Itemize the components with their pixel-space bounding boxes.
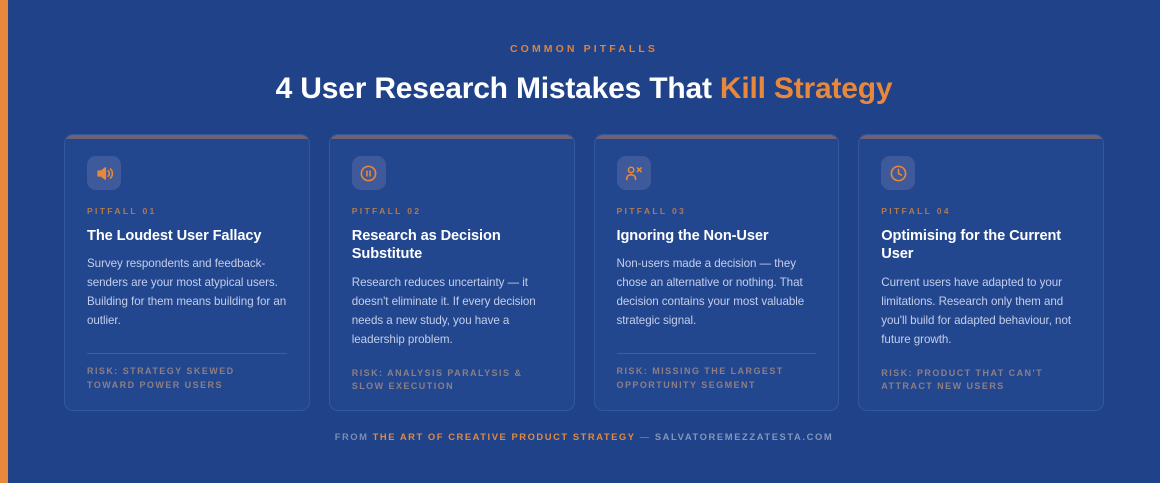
pitfall-number-label: PITFALL 04 xyxy=(881,207,1081,216)
user-x-icon xyxy=(624,164,643,183)
pause-circle-icon xyxy=(359,164,378,183)
page-title-accent: Kill Strategy xyxy=(720,72,892,105)
pitfall-number-label: PITFALL 02 xyxy=(352,207,552,216)
card-icon-tile xyxy=(352,156,386,190)
card-title: Optimising for the Current User xyxy=(881,227,1081,264)
card-title: Ignoring the Non-User xyxy=(617,227,817,246)
footer-book-title[interactable]: THE ART OF CREATIVE PRODUCT STRATEGY xyxy=(373,431,636,442)
footer-from-label: FROM xyxy=(335,431,369,442)
footer-attribution: FROM THE ART OF CREATIVE PRODUCT STRATEG… xyxy=(335,432,834,441)
page-title-plain: 4 User Research Mistakes That xyxy=(276,72,720,105)
card-top-accent xyxy=(595,135,839,139)
clock-icon xyxy=(889,164,908,183)
card-icon-tile xyxy=(87,156,121,190)
footer-dash: — xyxy=(640,431,651,442)
eyebrow-label: COMMON PITFALLS xyxy=(510,44,658,55)
pitfall-number-label: PITFALL 01 xyxy=(87,207,287,216)
pitfall-card[interactable]: PITFALL 02 Research as Decision Substitu… xyxy=(329,134,575,411)
card-risk-text: RISK: ANALYSIS PARALYSIS & SLOW EXECUTIO… xyxy=(352,367,552,412)
footer-website-link[interactable]: SALVATOREMEZZATESTA.COM xyxy=(655,431,833,442)
pitfall-card[interactable]: PITFALL 01 The Loudest User Fallacy Surv… xyxy=(64,134,310,411)
card-icon-tile xyxy=(881,156,915,190)
pitfall-card[interactable]: PITFALL 04 Optimising for the Current Us… xyxy=(858,134,1104,411)
card-spacer xyxy=(352,350,552,356)
card-icon-tile xyxy=(617,156,651,190)
pitfall-card[interactable]: PITFALL 03 Ignoring the Non-User Non-use… xyxy=(594,134,840,411)
card-spacer xyxy=(87,331,287,353)
card-top-accent xyxy=(65,135,309,139)
card-risk-text: RISK: MISSING THE LARGEST OPPORTUNITY SE… xyxy=(617,365,817,410)
page-container: COMMON PITFALLS 4 User Research Mistakes… xyxy=(8,0,1160,483)
card-title: Research as Decision Substitute xyxy=(352,227,552,264)
card-divider xyxy=(617,353,817,354)
card-top-accent xyxy=(330,135,574,139)
card-risk-text: RISK: PRODUCT THAT CAN'T ATTRACT NEW USE… xyxy=(881,367,1081,412)
card-divider xyxy=(87,353,287,354)
card-title: The Loudest User Fallacy xyxy=(87,227,287,246)
card-body-text: Current users have adapted to your limit… xyxy=(881,274,1081,350)
card-spacer xyxy=(617,331,817,353)
pitfall-number-label: PITFALL 03 xyxy=(617,207,817,216)
card-top-accent xyxy=(859,135,1103,139)
card-risk-text: RISK: STRATEGY SKEWED TOWARD POWER USERS xyxy=(87,365,287,410)
left-accent-stripe xyxy=(0,0,8,483)
pitfall-card-list: PITFALL 01 The Loudest User Fallacy Surv… xyxy=(64,134,1104,411)
card-spacer xyxy=(881,350,1081,356)
card-body-text: Research reduces uncertainty — it doesn'… xyxy=(352,274,552,350)
page-title: 4 User Research Mistakes That Kill Strat… xyxy=(276,72,893,107)
card-body-text: Non-users made a decision — they chose a… xyxy=(617,255,817,331)
card-body-text: Survey respondents and feedback-senders … xyxy=(87,255,287,331)
volume-speaker-icon xyxy=(95,164,114,183)
